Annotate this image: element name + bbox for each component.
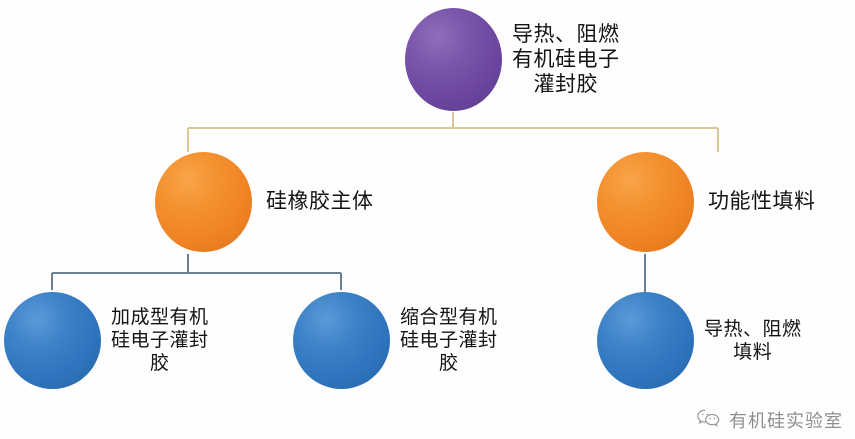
node-silicone-rubber-base[interactable]: 硅橡胶主体 <box>155 152 374 252</box>
thermal-flame-retardant-filler-label: 导热、阻燃 填料 <box>704 318 802 364</box>
condensation-type-potting-adhesive-bubble <box>293 292 390 389</box>
functional-filler-bubble <box>597 152 694 252</box>
node-condensation-type-potting-adhesive[interactable]: 缩合型有机 硅电子灌封 胶 <box>293 292 498 389</box>
node-addition-type-potting-adhesive[interactable]: 加成型有机 硅电子灌封 胶 <box>4 292 209 389</box>
connector-level2-left-to-level3 <box>52 254 341 290</box>
root-label: 导热、阻燃 有机硅电子 灌封胶 <box>512 22 620 98</box>
root-bubble <box>405 8 502 111</box>
wechat-icon <box>696 408 722 432</box>
condensation-type-potting-adhesive-label: 缩合型有机 硅电子灌封 胶 <box>400 306 498 374</box>
silicone-rubber-base-bubble <box>155 152 252 252</box>
diagram-canvas: 导热、阻燃 有机硅电子 灌封胶 硅橡胶主体 功能性填料 加成型有机 硅电子灌封 … <box>0 0 855 439</box>
watermark: 有机硅实验室 <box>696 407 843 433</box>
node-thermal-flame-retardant-filler[interactable]: 导热、阻燃 填料 <box>597 292 802 389</box>
watermark-text: 有机硅实验室 <box>729 407 843 433</box>
silicone-rubber-base-label: 硅橡胶主体 <box>266 189 374 214</box>
thermal-flame-retardant-filler-bubble <box>597 292 694 389</box>
node-root[interactable]: 导热、阻燃 有机硅电子 灌封胶 <box>405 8 620 111</box>
addition-type-potting-adhesive-bubble <box>4 292 101 389</box>
functional-filler-label: 功能性填料 <box>708 189 816 214</box>
connector-root-to-level2 <box>188 112 718 152</box>
addition-type-potting-adhesive-label: 加成型有机 硅电子灌封 胶 <box>111 306 209 374</box>
node-functional-filler[interactable]: 功能性填料 <box>597 152 816 252</box>
